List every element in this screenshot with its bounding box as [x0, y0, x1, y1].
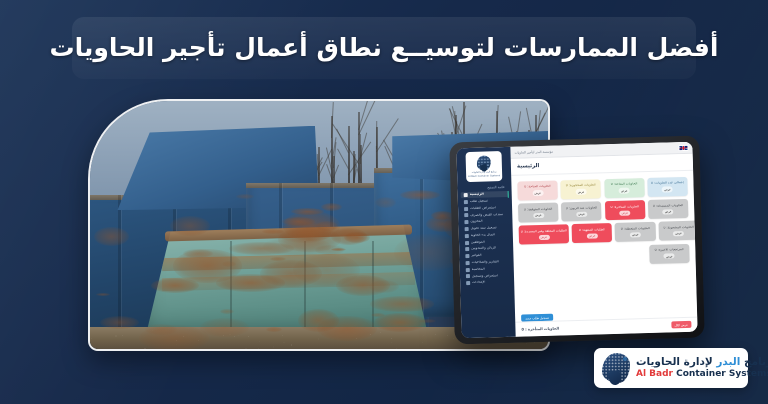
home-icon	[464, 193, 468, 197]
ground-grit	[318, 338, 319, 339]
brand-ar-suffix: لإدارة الحاويات	[636, 356, 716, 368]
stat-card-1-1[interactable]: الحاويات عند الزبون: 0عرض	[561, 201, 602, 221]
view-all-button[interactable]: عرض الكل	[671, 321, 692, 328]
brand-text-block: برنامج البدر لإدارة الحاويات Al Badr Con…	[636, 356, 768, 379]
ground-grit	[115, 335, 117, 337]
sidebar-logo-english: Al Badr Container Systems	[468, 175, 500, 179]
stats-card-row: الحاويات المتاحة: 0عرضالحاويات المحجوزة:…	[517, 177, 687, 201]
box-icon	[464, 220, 468, 224]
stat-card-label: الحاويات المتاحة: 0	[524, 185, 551, 189]
stats-card-row: الحاويات المتوقفة: 0عرضالحاويات عند الزب…	[518, 199, 688, 223]
sidebar-item-label: تسجيل طلب	[470, 199, 488, 203]
tree-branch	[376, 146, 377, 171]
foreground-skip-container	[145, 225, 429, 339]
ground-grit	[258, 348, 259, 349]
brand-ar-accent: البدر	[716, 356, 740, 368]
stat-card-label: الحاويات المستبدلة: 0	[653, 204, 683, 208]
stat-card-label: الحاويات المتعطلة: 0	[621, 227, 650, 231]
sidebar-item-label: سندات القبض والصرف	[470, 213, 503, 218]
stat-card-label: الطلبات المنتهية: 0	[579, 228, 605, 232]
gear-icon	[466, 281, 470, 285]
stat-card-2-0[interactable]: الطلبات المعلقة وغير المسددة: 0عرض	[519, 225, 570, 245]
tree-branch	[376, 121, 377, 149]
calculator-icon	[466, 268, 470, 272]
ground-grit	[223, 335, 224, 336]
sidebar-item-label: الموظفين	[471, 240, 485, 244]
stat-card-label: الحاويات المتأخرة: 0	[610, 205, 638, 209]
albadr-brand-icon	[602, 353, 630, 383]
stat-card-label: الطلبات المعلقة وغير المسددة: 0	[521, 229, 567, 234]
sidebar-item-label: الزبائن والمندوبين	[471, 247, 496, 251]
ground-grit	[283, 342, 285, 344]
stat-card-action[interactable]: عرض	[662, 187, 673, 192]
customers-icon	[465, 247, 469, 251]
ground-grit	[245, 348, 247, 349]
list-icon	[464, 207, 468, 211]
plus-icon	[464, 200, 468, 204]
stat-card-action[interactable]: عرض	[663, 209, 674, 214]
stat-card-action[interactable]: عرض	[575, 189, 586, 194]
stat-card-2-1[interactable]: الطلبات المنتهية: 0عرض	[572, 223, 613, 243]
stat-card-action[interactable]: عرض	[532, 190, 543, 195]
ground-grit	[391, 338, 392, 339]
stats-card-row: الطلبات المعلقة وغير المسددة: 0عرضالطلبا…	[519, 221, 689, 245]
stat-card-action[interactable]: عرض	[533, 213, 544, 218]
stat-card-action[interactable]: عرض	[673, 231, 684, 236]
brand-lockup: برنامج البدر لإدارة الحاويات Al Badr Con…	[594, 348, 748, 388]
stat-card-action[interactable]: عرض	[587, 233, 598, 238]
ground-grit	[391, 342, 392, 343]
brand-en-accent: Al Badr	[636, 369, 673, 379]
stat-card-0-1[interactable]: الحاويات المحجوزة: 0عرض	[561, 179, 602, 199]
poster-canvas: أفضل الممارسات لتوسيــع نطاق أعمال تأجير…	[0, 0, 768, 404]
ground-grit	[229, 334, 230, 335]
ground-grit	[234, 336, 235, 337]
sidebar-item-label: استعراض وتسجيل	[472, 274, 498, 278]
ground-grit	[447, 335, 448, 336]
ground-grit	[423, 335, 424, 336]
stat-card-label: الحاويات عند الزبون: 0	[566, 206, 598, 210]
topbar-left-group: مؤسسة البدر لتأجير الحاويات	[514, 149, 553, 154]
stat-card-label: الحاويات المتوقفة: 0	[524, 207, 553, 211]
stat-card-label: الحاويات المشحونة: 0	[663, 225, 693, 229]
sidebar-item-13[interactable]: الإعدادات	[463, 279, 511, 287]
sidebar-item-label: الإعدادات	[472, 281, 485, 285]
account-label: مؤسسة البدر لتأجير الحاويات	[514, 149, 553, 154]
stat-card-action[interactable]: عرض	[664, 253, 675, 258]
sidebar-item-label: المحاسبة	[472, 267, 485, 271]
stats-card-grid: الحاويات المتاحة: 0عرضالحاويات المحجوزة:…	[511, 171, 697, 315]
stat-card-label: الحاويات المتاحة: 0	[611, 183, 638, 187]
ground-grit	[248, 336, 249, 337]
page-title: أفضل الممارسات لتوسيــع نطاق أعمال تأجير…	[50, 32, 719, 63]
users-icon	[465, 241, 469, 245]
skip-body	[145, 225, 429, 339]
dashboard-page-title: الرئيسية	[517, 163, 540, 170]
chart-icon	[466, 261, 470, 265]
stat-card-0-2[interactable]: الحاويات المتاحة: 0عرض	[604, 178, 645, 198]
dashboard-sidebar: برنامج البدر لإدارة الحاويات Al Badr Con…	[456, 147, 515, 338]
stat-card-2-2[interactable]: الحاويات المتعطلة: 0عرض	[615, 222, 656, 242]
overdue-status-text: الحاويات المتأخرة : 0	[521, 326, 559, 331]
sidebar-nav: الرئيسيةتسجيل طلباستعراض الطلباتسندات ال…	[461, 191, 512, 287]
stat-card-label: الحاويات المحجوزة: 0	[566, 184, 596, 188]
receipt-icon	[464, 213, 468, 217]
ground-grit	[144, 348, 146, 349]
stat-card-3-3[interactable]: المرتجعات الأخيرة: 0عرض	[649, 243, 690, 263]
stats-card-row: المرتجعات الأخيرة: 0عرض	[519, 243, 689, 267]
brand-en-rest: Container Systems	[673, 369, 768, 379]
ground-grit	[282, 335, 283, 336]
stat-card-action[interactable]: عرض	[619, 188, 630, 193]
brand-name-arabic: برنامج البدر لإدارة الحاويات	[636, 356, 768, 368]
sidebar-item-label: الرئيسية	[470, 193, 484, 197]
stat-card-label: إجمالي عدد الحاويات: 0	[651, 181, 684, 185]
stat-card-2-3[interactable]: الحاويات المشحونة: 0عرض	[658, 221, 697, 241]
sidebar-section-label: قائمة التصفح	[460, 185, 508, 190]
truck-icon	[465, 234, 469, 238]
uk-flag-icon[interactable]	[678, 144, 688, 150]
ground-grit	[259, 341, 260, 342]
stat-card-1-0[interactable]: الحاويات المتوقفة: 0عرض	[518, 203, 559, 223]
invoice-icon	[465, 254, 469, 258]
ground-grit	[380, 332, 381, 333]
ground-grit	[152, 330, 153, 331]
dashboard-main: مؤسسة البدر لتأجير الحاويات الرئيسية الح…	[510, 142, 697, 337]
ground-grit	[370, 334, 371, 335]
stat-card-0-0[interactable]: الحاويات المتاحة: 0عرض	[517, 181, 558, 201]
stat-card-action[interactable]: عرض	[630, 232, 641, 237]
headline-banner: أفضل الممارسات لتوسيــع نطاق أعمال تأجير…	[72, 17, 696, 79]
tablet-screen: برنامج البدر لإدارة الحاويات Al Badr Con…	[456, 142, 697, 339]
search-icon	[466, 274, 470, 278]
ground-grit	[122, 335, 123, 336]
sidebar-item-label: التقارير والصلاحيات	[472, 260, 499, 264]
stat-card-action[interactable]: عرض	[538, 235, 549, 240]
stat-card-1-3[interactable]: الحاويات المستبدلة: 0عرض	[648, 199, 689, 219]
brand-ar-prefix: برنامج	[740, 356, 768, 368]
stat-card-label: المرتجعات الأخيرة: 0	[655, 248, 684, 252]
sidebar-item-label: أعمال بدء الحاوية	[471, 233, 496, 237]
ground-grit	[356, 338, 357, 339]
ground-grit	[176, 340, 177, 341]
sidebar-item-label: المخزون	[470, 220, 482, 224]
brand-glyph-dot	[623, 357, 627, 361]
sidebar-item-label: الفواتير	[471, 254, 481, 258]
sidebar-item-label: تسجيل سند تحويل	[471, 226, 497, 230]
sidebar-logo: برنامج البدر لإدارة الحاويات Al Badr Con…	[466, 151, 503, 182]
brand-name-english: Al Badr Container Systems	[636, 369, 768, 379]
transfer-icon	[465, 227, 469, 231]
stat-card-1-2[interactable]: الحاويات المتأخرة: 0عرض	[604, 200, 645, 220]
albadr-logo-icon	[477, 155, 491, 170]
stat-card-action[interactable]: عرض	[576, 211, 587, 216]
tablet-device: برنامج البدر لإدارة الحاويات Al Badr Con…	[449, 136, 705, 345]
stat-card-action[interactable]: عرض	[619, 210, 630, 215]
sidebar-item-label: استعراض الطلبات	[470, 206, 496, 210]
stat-card-0-3[interactable]: إجمالي عدد الحاويات: 0عرض	[647, 177, 688, 197]
